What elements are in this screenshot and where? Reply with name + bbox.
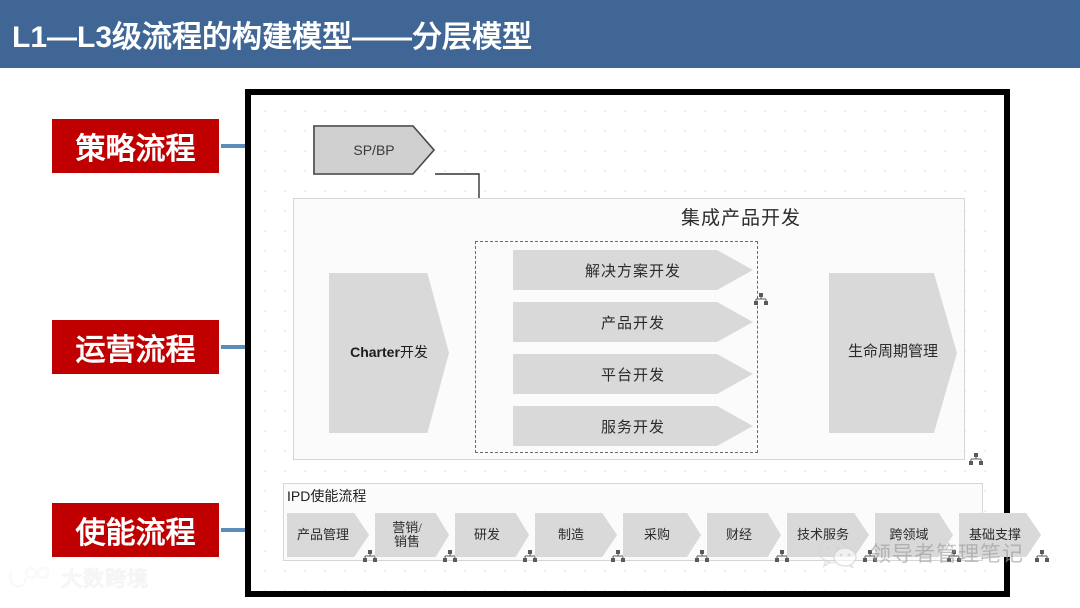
layer-label-strategy: 策略流程 <box>52 119 219 173</box>
shape-pd-enabling-2-label: 研发 <box>474 528 500 542</box>
diagram-frame: SP/BP 集成产品开发 Charter开发 解决方案开发 产品开发 平台开发 … <box>245 89 1010 597</box>
watermark-right-text: 领导者管理笔记 <box>870 538 1024 568</box>
dashukuajing-logo <box>8 565 54 591</box>
layer-label-operation: 运营流程 <box>52 320 219 374</box>
shape-pd-enabling-3-label: 制造 <box>558 528 584 542</box>
shape-stream-0[interactable]: 解决方案开发 <box>513 250 753 290</box>
wechat-icon <box>818 538 862 568</box>
hierarchy-icon <box>969 453 983 465</box>
shape-pd-enabling-1-label: 营销/ 销售 <box>392 521 422 550</box>
page-title: L1—L3级流程的构建模型——分层模型 <box>0 12 532 56</box>
panel-ipd-title: 集成产品开发 <box>681 203 801 230</box>
shape-pd-enabling-0-label: 产品管理 <box>297 528 349 542</box>
shape-stream-1-label: 产品开发 <box>601 312 665 333</box>
slide-title-bar: L1—L3级流程的构建模型——分层模型 <box>0 0 1080 68</box>
shape-stream-1[interactable]: 产品开发 <box>513 302 753 342</box>
shape-pd-enabling-5[interactable]: 财经 <box>707 513 781 557</box>
shape-spbp[interactable]: SP/BP <box>313 125 435 175</box>
layer-label-enablement-text: 使能流程 <box>76 508 196 552</box>
hierarchy-icon <box>523 550 537 562</box>
shape-pd-enabling-0[interactable]: 产品管理 <box>287 513 369 557</box>
shape-pd-enabling-5-label: 财经 <box>726 528 752 542</box>
shape-pd-enabling-2[interactable]: 研发 <box>455 513 529 557</box>
layer-label-operation-text: 运营流程 <box>76 325 196 369</box>
shape-spbp-label: SP/BP <box>353 142 394 158</box>
shape-lifecycle-management[interactable]: 生命周期管理 <box>829 273 957 433</box>
watermark-right: 领导者管理笔记 <box>818 538 1024 568</box>
shape-pd-enabling-4-label: 采购 <box>644 528 670 542</box>
shape-pd-enabling-3[interactable]: 制造 <box>535 513 617 557</box>
layer-label-enablement: 使能流程 <box>52 503 219 557</box>
watermark-left-text: 大数跨境 <box>61 563 149 593</box>
layer-label-strategy-text: 策略流程 <box>76 124 196 168</box>
hierarchy-icon <box>754 293 768 305</box>
shape-stream-3-label: 服务开发 <box>601 416 665 437</box>
shape-lifecycle-management-label: 生命周期管理 <box>848 344 938 361</box>
watermark-left: 大数跨境 <box>8 563 149 593</box>
shape-pd-enabling-1[interactable]: 营销/ 销售 <box>375 513 449 557</box>
hierarchy-icon <box>611 550 625 562</box>
shape-stream-0-label: 解决方案开发 <box>585 260 681 281</box>
title-underline <box>0 68 1080 73</box>
shape-stream-2-label: 平台开发 <box>601 364 665 385</box>
shape-charter-development-label: Charter开发 <box>350 344 428 362</box>
shape-charter-development[interactable]: Charter开发 <box>329 273 449 433</box>
shape-pd-enabling-4[interactable]: 采购 <box>623 513 701 557</box>
hierarchy-icon <box>363 550 377 562</box>
panel-pd-enabling-title: IPD使能流程 <box>287 486 366 506</box>
hierarchy-icon <box>695 550 709 562</box>
shape-stream-2[interactable]: 平台开发 <box>513 354 753 394</box>
hierarchy-icon <box>443 550 457 562</box>
shape-stream-3[interactable]: 服务开发 <box>513 406 753 446</box>
hierarchy-icon <box>1035 550 1049 562</box>
hierarchy-icon <box>775 550 789 562</box>
